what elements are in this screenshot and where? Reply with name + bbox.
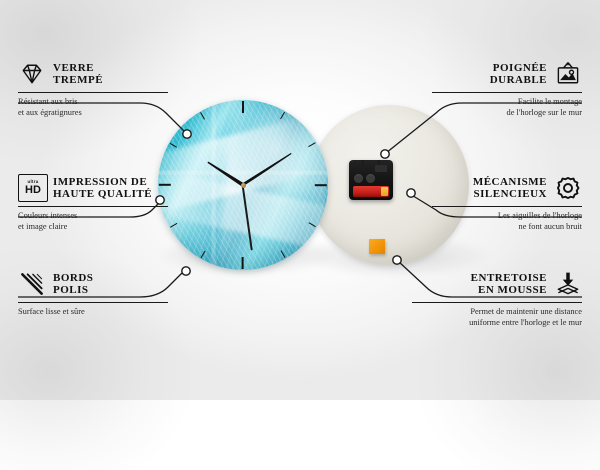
feature-subtitle: Surface lisse et sûre <box>18 307 168 318</box>
gear-icon <box>554 174 582 202</box>
polished-edges-icon <box>18 270 46 298</box>
feature-title: POIGNÉE DURABLE <box>490 62 547 87</box>
feature-header: BORDS POLIS <box>18 270 168 298</box>
feature-subtitle: Couleurs intenses et image claire <box>18 211 168 232</box>
product-image <box>150 95 470 295</box>
feature-header: POIGNÉE DURABLE <box>432 60 582 88</box>
feature-header: VERRE TREMPÉ <box>18 60 168 88</box>
clock-tick-0 <box>242 101 244 185</box>
feature-subtitle: Les aiguilles de l'horloge ne font aucun… <box>432 211 582 232</box>
feature-title: BORDS POLIS <box>53 272 93 297</box>
feature-rule <box>18 92 168 93</box>
feature-header: MÉCANISME SILENCIEUX <box>432 174 582 202</box>
foam-spacer-icon <box>554 270 582 298</box>
clock-front-face <box>158 100 328 270</box>
feature-subtitle: Permet de maintenir une distance uniform… <box>412 307 582 328</box>
clock-tick-9 <box>159 184 243 186</box>
infographic-canvas: VERRE TREMPÉ Résistant aux bris et aux é… <box>0 0 600 400</box>
clock-center-pin <box>241 183 246 188</box>
hanging-frame-icon <box>554 60 582 88</box>
feature-subtitle: Facilite le montage de l'horloge sur le … <box>432 97 582 118</box>
feature-title: ENTRETOISE EN MOUSSE <box>471 272 547 297</box>
feature-rule <box>18 206 168 207</box>
foam-spacer <box>369 239 385 254</box>
feature-mecanisme-silencieux[interactable]: MÉCANISME SILENCIEUX Les aiguilles de l'… <box>432 174 582 232</box>
ultra-hd-icon-main-text: HD <box>25 185 41 196</box>
feature-header: ENTRETOISE EN MOUSSE <box>412 270 582 298</box>
feature-entretoise-en-mousse[interactable]: ENTRETOISE EN MOUSSE Permet de maintenir… <box>412 270 582 328</box>
feature-rule <box>18 302 168 303</box>
feature-title: MÉCANISME SILENCIEUX <box>473 176 547 201</box>
ultra-hd-icon: ultra HD <box>18 174 46 202</box>
feature-subtitle: Résistant aux bris et aux égratignures <box>18 97 168 118</box>
diamond-icon <box>18 60 46 88</box>
feature-rule <box>432 206 582 207</box>
feature-impression-haute-qualite[interactable]: ultra HD IMPRESSION DE HAUTE QUALITÉ Cou… <box>18 174 168 232</box>
battery <box>353 186 389 197</box>
mechanism-dial-1 <box>354 174 363 183</box>
feature-rule <box>432 92 582 93</box>
clock-mechanism <box>349 160 393 200</box>
mechanism-dial-2 <box>366 174 375 183</box>
feature-title: VERRE TREMPÉ <box>53 62 103 87</box>
clock-tick-3 <box>243 184 327 186</box>
mechanism-slot <box>375 165 387 172</box>
feature-verre-trempe[interactable]: VERRE TREMPÉ Résistant aux bris et aux é… <box>18 60 168 118</box>
feature-poignee-durable[interactable]: POIGNÉE DURABLE Facilite le montage de l… <box>432 60 582 118</box>
feature-bords-polis[interactable]: BORDS POLIS Surface lisse et sûre <box>18 270 168 318</box>
feature-title: IMPRESSION DE HAUTE QUALITÉ <box>53 176 152 201</box>
feature-rule <box>412 302 582 303</box>
feature-header: ultra HD IMPRESSION DE HAUTE QUALITÉ <box>18 174 168 202</box>
